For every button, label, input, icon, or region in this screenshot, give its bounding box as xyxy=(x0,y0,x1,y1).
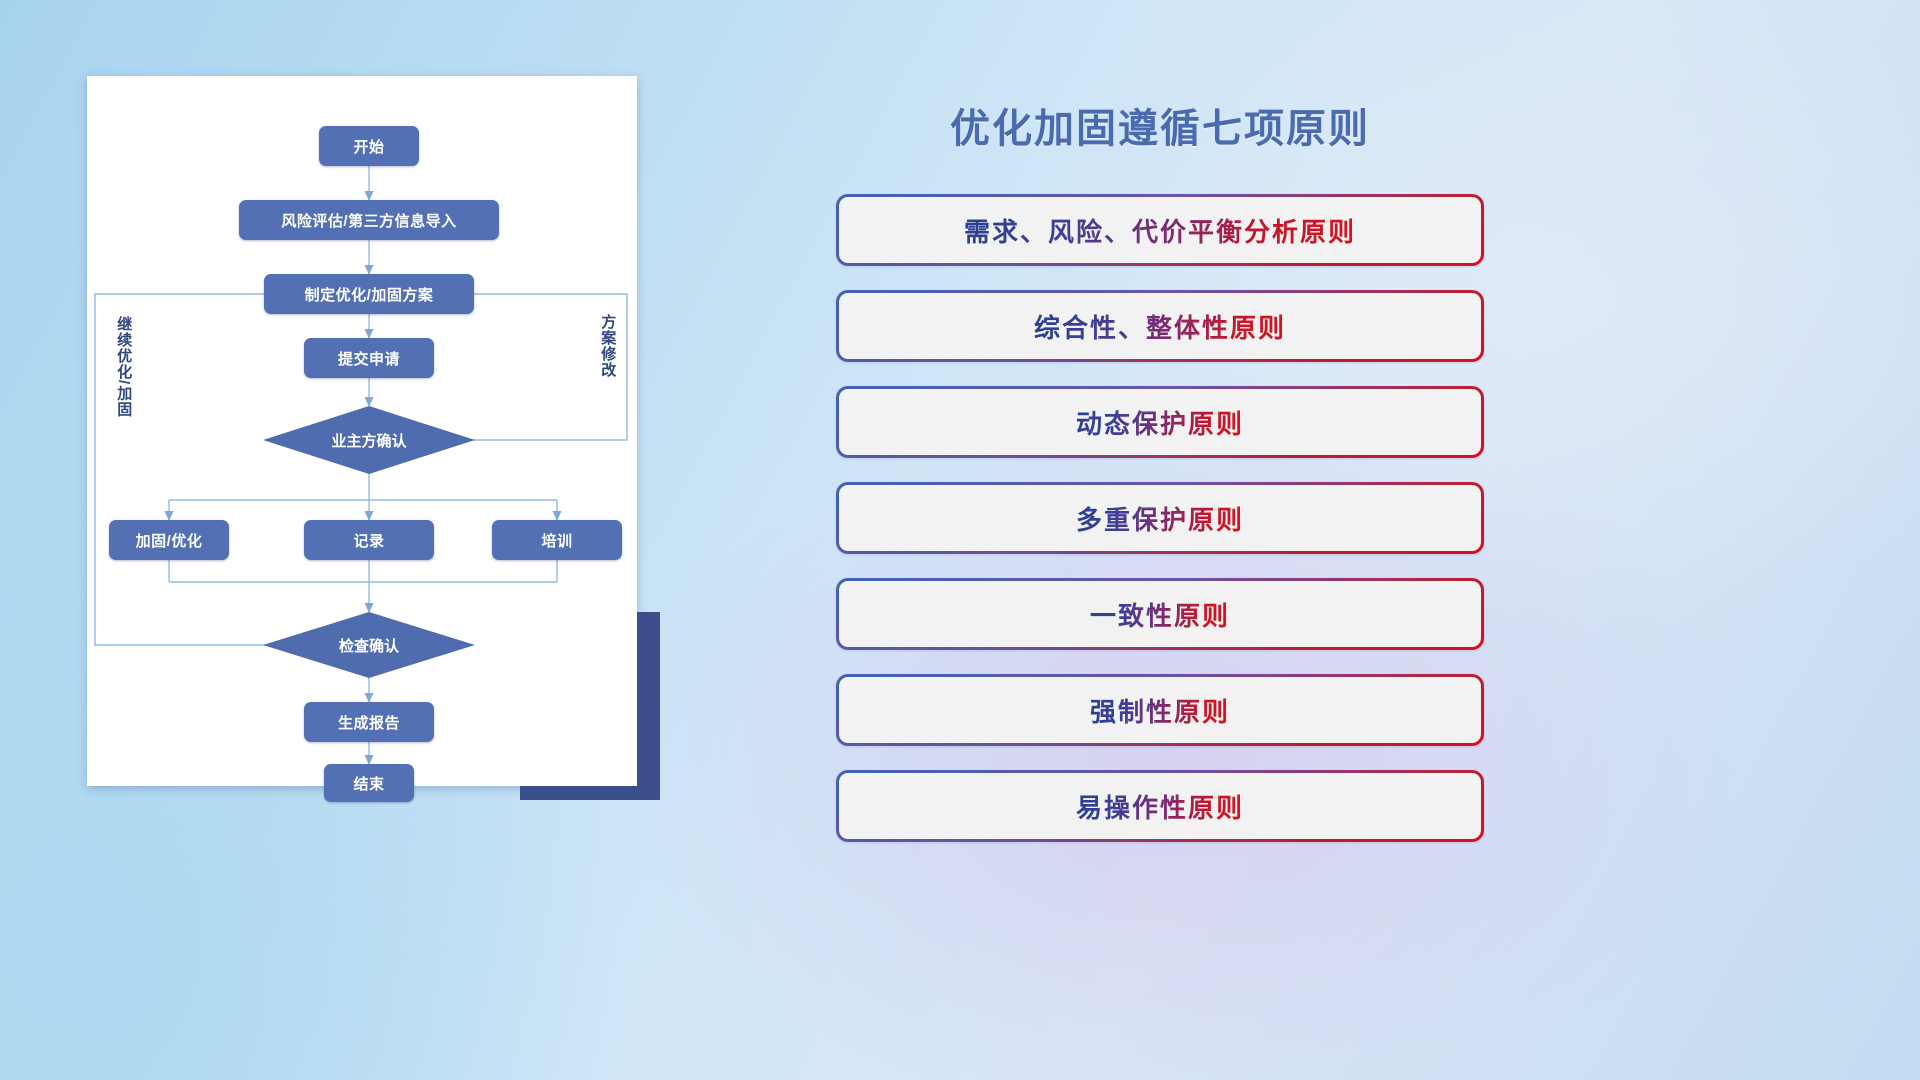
principle-card-3[interactable]: 动态保护原则 xyxy=(836,386,1484,458)
panel-title: 优化加固遵循七项原则 xyxy=(836,96,1484,154)
flowchart-canvas: 开始 风险评估/第三方信息导入 制定优化/加固方案 提交申请 业主方确认 加固/… xyxy=(87,76,637,786)
flow-node-start[interactable]: 开始 xyxy=(319,126,419,166)
flow-node-label: 风险评估/第三方信息导入 xyxy=(281,210,456,231)
principles-panel: 优化加固遵循七项原则 需求、风险、代价平衡分析原则 综合性、整体性原则 动态保护… xyxy=(836,80,1484,820)
flow-node-generate-report[interactable]: 生成报告 xyxy=(304,702,434,742)
slide-canvas: 开始 风险评估/第三方信息导入 制定优化/加固方案 提交申请 业主方确认 加固/… xyxy=(0,0,1920,1080)
flow-node-end[interactable]: 结束 xyxy=(324,764,414,802)
flow-node-record[interactable]: 记录 xyxy=(304,520,434,560)
principle-card-5[interactable]: 一致性原则 xyxy=(836,578,1484,650)
flow-node-label: 记录 xyxy=(353,530,384,551)
flow-node-label: 培训 xyxy=(541,530,572,551)
principle-label: 一致性原则 xyxy=(1090,596,1230,633)
flow-edge-label-continue-optimize: 继续优化/加固 xyxy=(115,316,131,417)
principle-card-4[interactable]: 多重保护原则 xyxy=(836,482,1484,554)
flow-node-label: 结束 xyxy=(353,773,384,794)
principle-label: 需求、风险、代价平衡分析原则 xyxy=(964,212,1356,249)
principle-label: 动态保护原则 xyxy=(1076,404,1244,441)
flow-node-make-plan[interactable]: 制定优化/加固方案 xyxy=(264,274,474,314)
flow-node-label: 检查确认 xyxy=(339,635,399,656)
flow-node-risk-assessment[interactable]: 风险评估/第三方信息导入 xyxy=(239,200,499,240)
flow-node-submit-application[interactable]: 提交申请 xyxy=(304,338,434,378)
flow-node-training[interactable]: 培训 xyxy=(492,520,622,560)
principles-list: 需求、风险、代价平衡分析原则 综合性、整体性原则 动态保护原则 多重保护原则 一… xyxy=(836,194,1484,866)
flowchart-card: 开始 风险评估/第三方信息导入 制定优化/加固方案 提交申请 业主方确认 加固/… xyxy=(87,76,637,786)
principle-card-7[interactable]: 易操作性原则 xyxy=(836,770,1484,842)
flow-node-label: 业主方确认 xyxy=(331,430,406,451)
principle-label: 易操作性原则 xyxy=(1076,788,1244,825)
flow-node-label: 制定优化/加固方案 xyxy=(305,284,434,305)
flow-node-label: 生成报告 xyxy=(338,712,400,733)
principle-card-6[interactable]: 强制性原则 xyxy=(836,674,1484,746)
principle-label: 综合性、整体性原则 xyxy=(1034,308,1286,345)
flow-node-label: 加固/优化 xyxy=(136,530,203,551)
principle-card-1[interactable]: 需求、风险、代价平衡分析原则 xyxy=(836,194,1484,266)
principle-label: 多重保护原则 xyxy=(1076,500,1244,537)
flow-node-label: 开始 xyxy=(353,136,384,157)
flow-edge-label-plan-revision: 方案修改 xyxy=(599,314,615,378)
flow-node-reinforce-optimize[interactable]: 加固/优化 xyxy=(109,520,229,560)
principle-label: 强制性原则 xyxy=(1090,692,1230,729)
flow-node-label: 提交申请 xyxy=(338,348,400,369)
principle-card-2[interactable]: 综合性、整体性原则 xyxy=(836,290,1484,362)
